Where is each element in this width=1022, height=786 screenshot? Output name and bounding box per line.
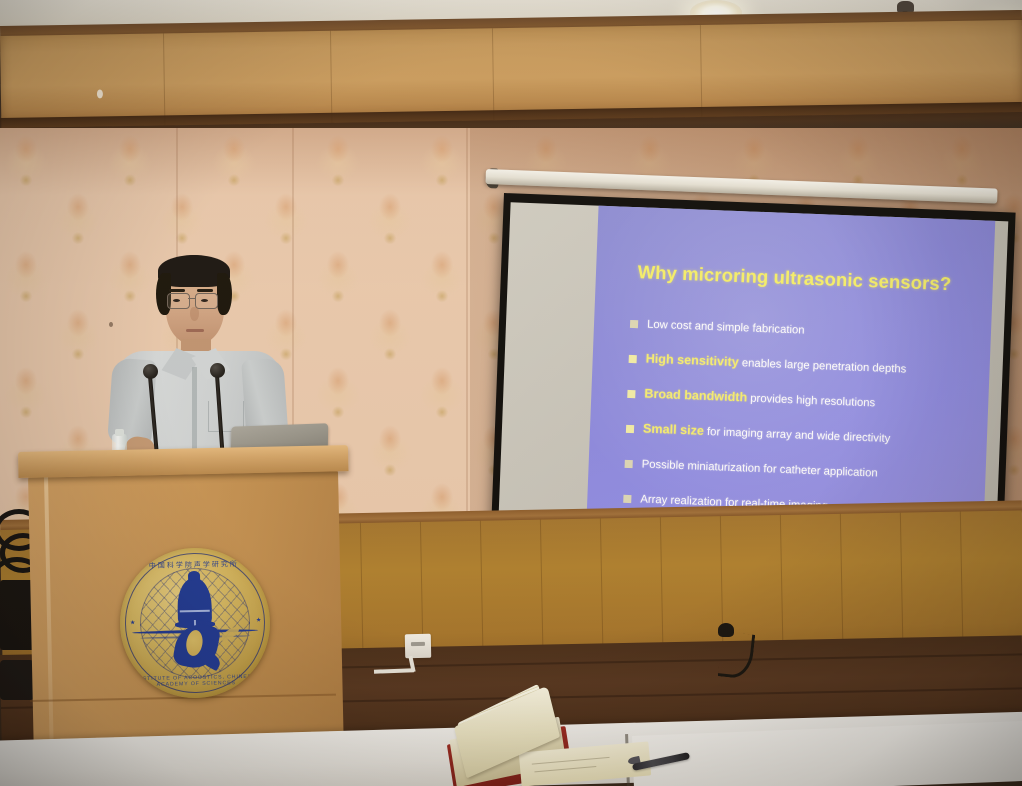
nose [190, 307, 199, 321]
wall-outlet[interactable] [405, 634, 431, 658]
valance-seam [492, 28, 494, 120]
lecture-hall-photo: Why microring ultrasonic sensors? Low co… [0, 0, 1022, 786]
emblem-star-icon: ★ [130, 621, 134, 625]
eyebrow [197, 289, 213, 292]
bullet-text: Possible miniaturization for catheter ap… [641, 458, 877, 479]
valance-seam [700, 25, 702, 117]
valance-seam [330, 31, 332, 123]
bullet-square-icon [630, 320, 638, 328]
mouth [186, 329, 204, 332]
bullet-text: Low cost and simple fabrication [647, 319, 805, 337]
wallpaper-seam [466, 128, 468, 548]
slide-title: Why microring ultrasonic sensors? [596, 260, 994, 297]
bottle-cap[interactable] [115, 429, 124, 436]
eye [173, 299, 180, 302]
eyeglasses-bridge [188, 298, 195, 299]
microphone-capsule-icon[interactable] [210, 363, 225, 378]
eyebrow [169, 289, 185, 292]
bullet-square-icon [629, 355, 637, 363]
bullet-square-icon [627, 390, 635, 398]
slide-bullet-item: Broad bandwidth provides high resolution… [627, 387, 987, 415]
bullet-square-icon [623, 495, 631, 503]
bullet-text: for imaging array and wide directivity [704, 426, 891, 445]
bullet-emphasis: Broad bandwidth [644, 387, 747, 405]
slide-bullet-item: Small size for imaging array and wide di… [626, 422, 986, 450]
bullet-square-icon [625, 460, 633, 468]
valance-blemish [97, 89, 103, 98]
bullet-text: provides high resolutions [747, 392, 875, 409]
slide-bullet-item: Possible miniaturization for catheter ap… [624, 457, 984, 485]
bullet-emphasis: High sensitivity [645, 352, 739, 370]
emblem-star-icon: ★ [256, 619, 260, 623]
bullet-emphasis: Small size [643, 422, 704, 438]
eye [201, 299, 208, 302]
microphone-capsule-icon[interactable] [143, 364, 158, 379]
valance-seam [163, 33, 165, 125]
hair-side [217, 273, 232, 315]
chair-base [0, 660, 34, 700]
slide-bullet-item: High sensitivity enables large penetrati… [628, 352, 988, 380]
slide-bullet-item: Low cost and simple fabrication [630, 317, 990, 345]
bullet-text: enables large penetration depths [738, 357, 906, 375]
emblem-chinese-text: 中国科学院声学研究所 [119, 558, 269, 571]
bullet-square-icon [626, 425, 634, 433]
